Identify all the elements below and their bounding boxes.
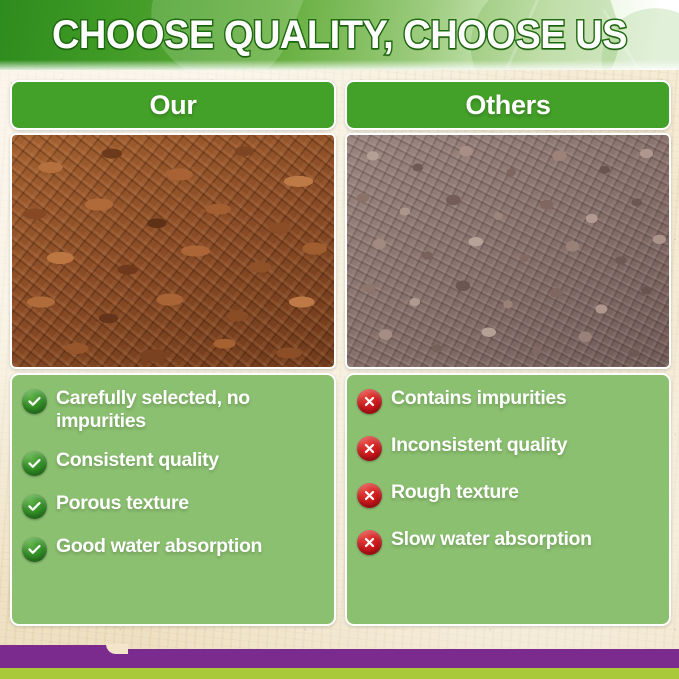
feature-text: Porous texture	[56, 492, 189, 515]
check-circle-icon	[22, 451, 47, 476]
list-item: Consistent quality	[22, 449, 324, 476]
column-header-our: Our	[10, 80, 336, 130]
bottom-decoration	[0, 643, 679, 679]
list-item: Carefully selected, no impurities	[22, 387, 324, 433]
banner-title: CHOOSE QUALITY, CHOOSE US	[17, 14, 662, 56]
list-item: Porous texture	[22, 492, 324, 519]
cross-circle-icon	[357, 389, 382, 414]
column-header-others: Others	[345, 80, 671, 130]
feature-text: Inconsistent quality	[391, 434, 567, 457]
lime-bar	[0, 668, 679, 679]
feature-text: Slow water absorption	[391, 528, 592, 551]
feature-text: Contains impurities	[391, 387, 566, 410]
feature-text: Good water absorption	[56, 535, 262, 558]
comparison-poster: CHOOSE QUALITY, CHOOSE US Our Carefully …	[0, 0, 679, 679]
list-item: Good water absorption	[22, 535, 324, 562]
feature-text: Rough texture	[391, 481, 519, 504]
product-photo-others	[345, 133, 671, 369]
column-header-label: Our	[149, 90, 196, 121]
feature-text: Consistent quality	[56, 449, 219, 472]
feature-list-our: Carefully selected, no impurities Consis…	[10, 373, 336, 626]
list-item: Contains impurities	[357, 387, 659, 414]
list-item: Rough texture	[357, 481, 659, 508]
column-our: Our Carefully selected, no impurities Co…	[10, 80, 336, 626]
check-circle-icon	[22, 494, 47, 519]
cross-circle-icon	[357, 530, 382, 555]
check-circle-icon	[22, 389, 47, 414]
column-header-label: Others	[465, 90, 550, 121]
banner-fade	[0, 60, 679, 70]
purple-bar-step	[0, 645, 96, 654]
cross-circle-icon	[357, 436, 382, 461]
column-others: Others Contains impurities Inconsistent …	[345, 80, 671, 626]
list-item: Inconsistent quality	[357, 434, 659, 461]
feature-list-others: Contains impurities Inconsistent quality…	[345, 373, 671, 626]
check-circle-icon	[22, 537, 47, 562]
list-item: Slow water absorption	[357, 528, 659, 555]
banner: CHOOSE QUALITY, CHOOSE US	[0, 0, 679, 70]
feature-text: Carefully selected, no impurities	[56, 387, 324, 433]
product-photo-our	[10, 133, 336, 369]
cross-circle-icon	[357, 483, 382, 508]
